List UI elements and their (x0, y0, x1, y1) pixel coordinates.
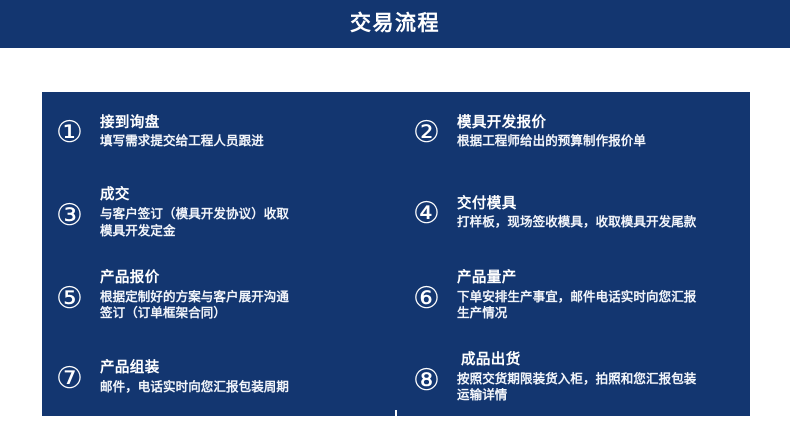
step-text-6: 产品量产 下单安排生产事宜，邮件电话实时向您汇报 生产情况 (457, 269, 750, 322)
step-number-circle-2: ② (413, 116, 457, 148)
process-step-2: ② 模具开发报价 根据工程师给出的预算制作报价单 (397, 92, 750, 172)
step-number-circle-4: ④ (413, 197, 457, 229)
step-description-5: 根据定制好的方案与客户展开沟通 签订（订单框架合同） (100, 289, 395, 323)
step-description-line: 根据定制好的方案与客户展开沟通 (100, 289, 395, 306)
step-description-line: 模具开发定金 (100, 223, 395, 240)
step-text-2: 模具开发报价 根据工程师给出的预算制作报价单 (457, 114, 750, 150)
step-title-7: 产品组装 (100, 359, 395, 379)
step-description-7: 邮件，电话实时向您汇报包装周期 (100, 379, 395, 396)
step-description-2: 根据工程师给出的预算制作报价单 (457, 133, 750, 150)
step-number-circle-1: ① (56, 116, 100, 148)
step-text-4: 交付模具 打样板，现场签收模具，收取模具开发尾款 (457, 195, 750, 231)
step-description-line: 根据工程师给出的预算制作报价单 (457, 133, 750, 150)
step-description-line: 运输详情 (457, 387, 750, 404)
step-description-6: 下单安排生产事宜，邮件电话实时向您汇报 生产情况 (457, 289, 750, 323)
step-description-line: 打样板，现场签收模具，收取模具开发尾款 (457, 214, 750, 231)
step-description-4: 打样板，现场签收模具，收取模具开发尾款 (457, 214, 750, 231)
step-number-circle-5: ⑤ (56, 278, 100, 314)
step-title-2: 模具开发报价 (457, 114, 750, 134)
step-text-3: 成交 与客户签订（模具开发协议）收取 模具开发定金 (100, 186, 395, 239)
step-text-8: 成品出货 按照交货期限装货入柜，拍照和您汇报包装 运输详情 (457, 351, 750, 404)
step-description-line: 生产情况 (457, 305, 750, 322)
step-title-5: 产品报价 (100, 269, 395, 289)
step-description-line: 邮件，电话实时向您汇报包装周期 (100, 379, 395, 396)
step-description-line: 签订（订单框架合同） (100, 305, 395, 322)
step-title-1: 接到询盘 (100, 114, 395, 134)
step-title-8: 成品出货 (457, 351, 750, 371)
step-title-6: 产品量产 (457, 269, 750, 289)
step-number-circle-7: ⑦ (56, 362, 100, 394)
step-description-line: 填写需求提交给工程人员跟进 (100, 133, 395, 150)
process-step-5: ⑤ 产品报价 根据定制好的方案与客户展开沟通 签订（订单框架合同） (42, 254, 395, 337)
page-title: 交易流程 (350, 13, 440, 35)
process-step-4: ④ 交付模具 打样板，现场签收模具，收取模具开发尾款 (397, 174, 750, 252)
step-description-3: 与客户签订（模具开发协议）收取 模具开发定金 (100, 206, 395, 240)
process-step-3: ③ 成交 与客户签订（模具开发协议）收取 模具开发定金 (42, 174, 395, 252)
step-description-line: 与客户签订（模具开发协议）收取 (100, 206, 395, 223)
step-text-7: 产品组装 邮件，电话实时向您汇报包装周期 (100, 359, 395, 395)
step-description-line: 按照交货期限装货入柜，拍照和您汇报包装 (457, 371, 750, 388)
step-number-circle-3: ③ (56, 195, 100, 231)
process-step-6: ⑥ 产品量产 下单安排生产事宜，邮件电话实时向您汇报 生产情况 (397, 254, 750, 337)
process-step-8: ⑧ 成品出货 按照交货期限装货入柜，拍照和您汇报包装 运输详情 (397, 339, 750, 416)
process-step-7: ⑦ 产品组装 邮件，电话实时向您汇报包装周期 (42, 339, 395, 416)
step-description-line: 下单安排生产事宜，邮件电话实时向您汇报 (457, 289, 750, 306)
step-description-8: 按照交货期限装货入柜，拍照和您汇报包装 运输详情 (457, 371, 750, 405)
step-text-5: 产品报价 根据定制好的方案与客户展开沟通 签订（订单框架合同） (100, 269, 395, 322)
step-title-3: 成交 (100, 186, 395, 206)
transaction-process-grid: ① 接到询盘 填写需求提交给工程人员跟进 ② 模具开发报价 根据工程师给出的预算… (42, 92, 750, 410)
step-number-circle-6: ⑥ (413, 278, 457, 314)
process-step-1: ① 接到询盘 填写需求提交给工程人员跟进 (42, 92, 395, 172)
step-description-1: 填写需求提交给工程人员跟进 (100, 133, 395, 150)
step-title-4: 交付模具 (457, 195, 750, 215)
step-number-circle-8: ⑧ (413, 360, 457, 396)
step-text-1: 接到询盘 填写需求提交给工程人员跟进 (100, 114, 395, 150)
page-header-banner: 交易流程 (0, 0, 790, 48)
